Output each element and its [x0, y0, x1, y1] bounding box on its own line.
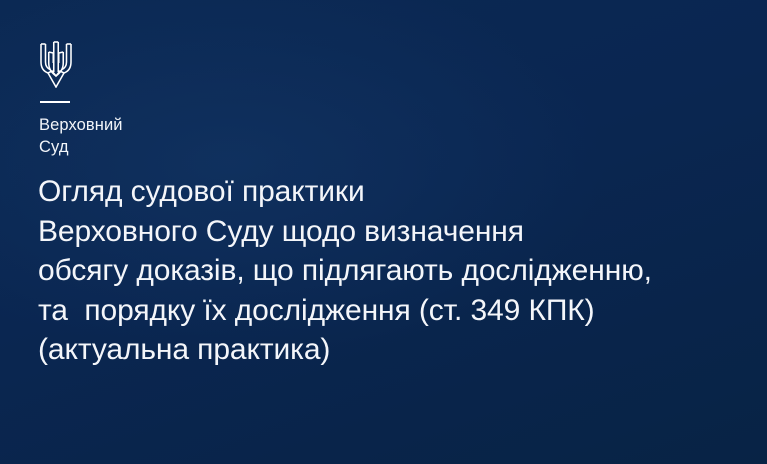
title-line-3: обсягу доказів, що підлягають дослідженн…: [38, 251, 737, 291]
page-title: Огляд судової практики Верховного Суду щ…: [38, 172, 737, 370]
horizontal-rule-icon: [40, 101, 70, 103]
ukraine-trident-icon: [39, 41, 73, 88]
court-logo: Верховний Суд: [39, 41, 219, 158]
title-slide: Верховний Суд Огляд судової практики Вер…: [0, 0, 767, 464]
title-line-1: Огляд судової практики: [38, 172, 737, 212]
organization-name: Верховний Суд: [39, 114, 219, 158]
title-line-2: Верховного Суду щодо визначення: [38, 212, 737, 252]
title-line-5: (актуальна практика): [38, 330, 737, 370]
title-line-4: та порядку їх дослідження (ст. 349 КПК): [38, 291, 737, 331]
